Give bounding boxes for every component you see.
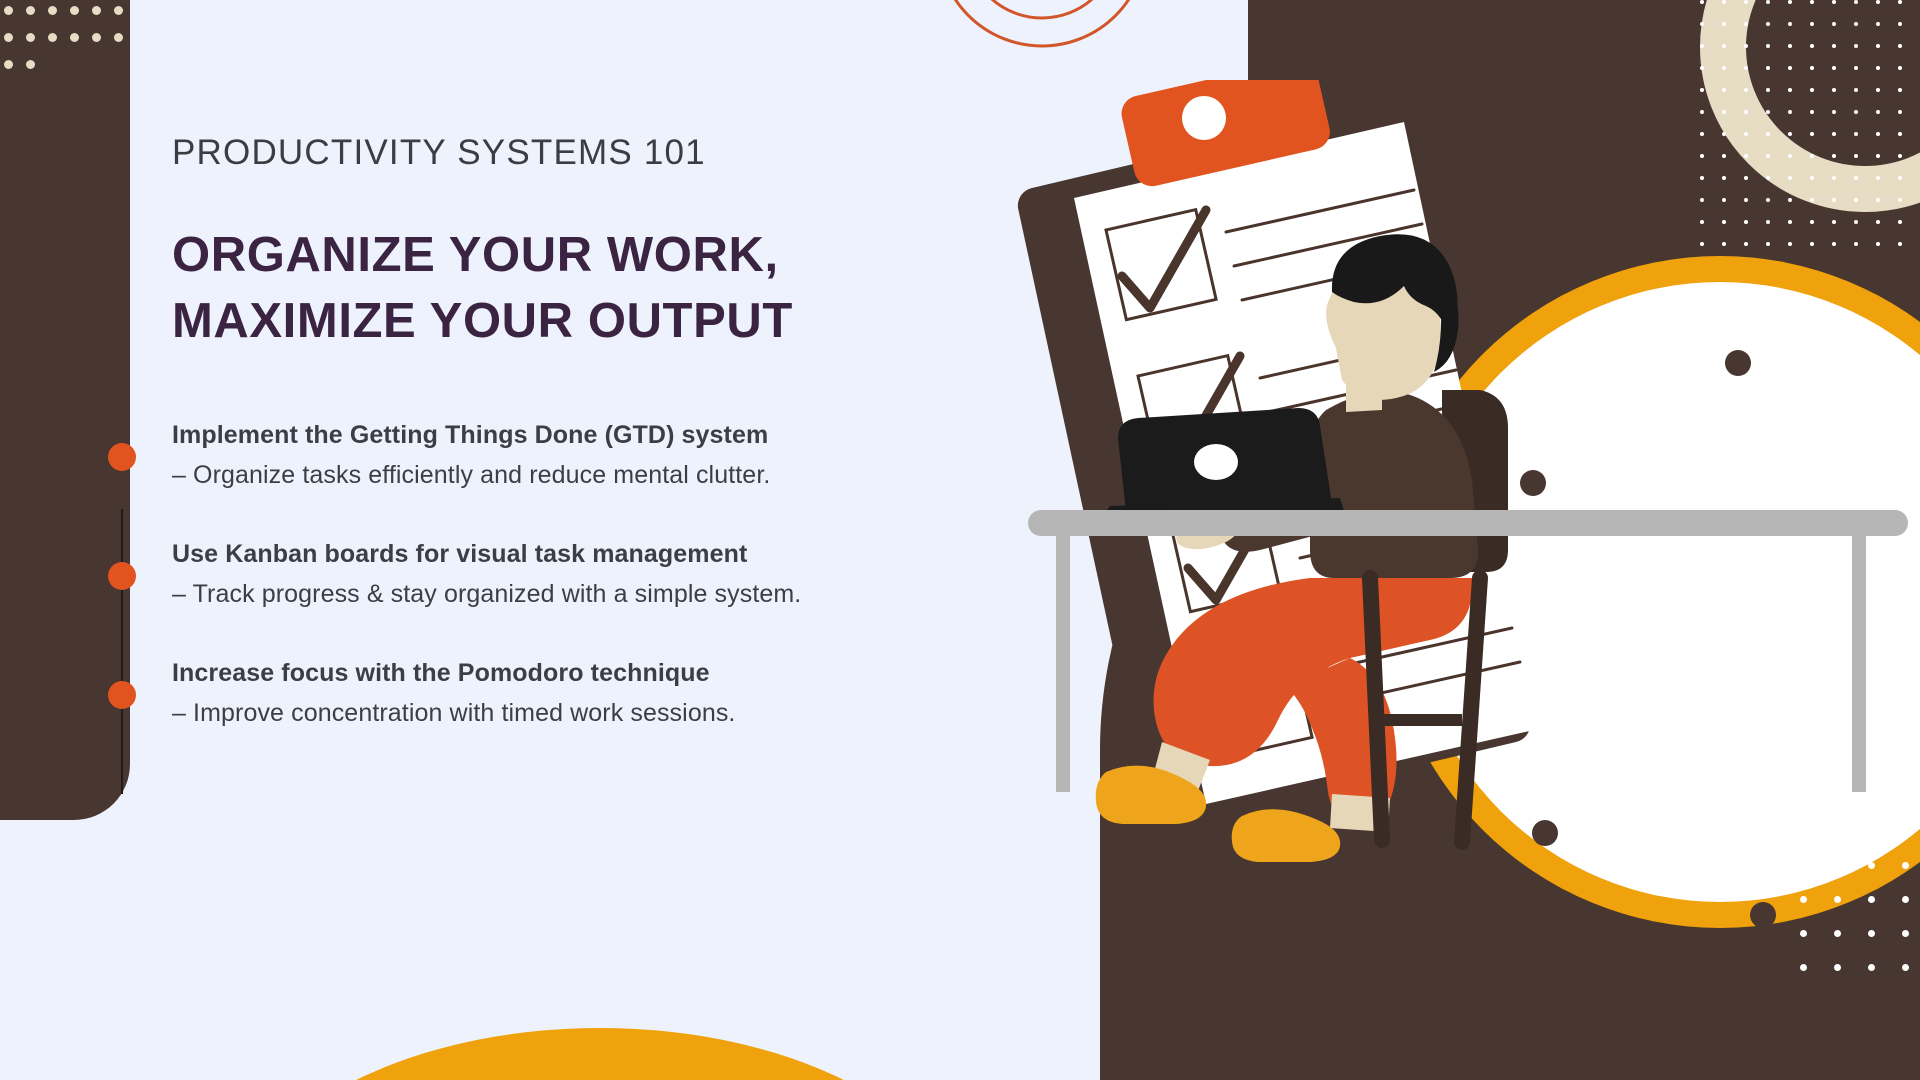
decor-dot [1832, 22, 1836, 26]
decor-dot [1788, 22, 1792, 26]
decor-dot [1744, 44, 1748, 48]
decor-dot [1700, 44, 1704, 48]
decor-dot [1854, 0, 1858, 4]
timeline-dot-3[interactable] [108, 681, 136, 709]
decor-dot [92, 33, 101, 42]
decor-dot [1788, 44, 1792, 48]
bullet-title: Implement the Getting Things Done (GTD) … [172, 415, 1002, 455]
bullet-list: Implement the Getting Things Done (GTD) … [172, 415, 1002, 734]
decor-dot [1810, 22, 1814, 26]
decor-dot [1810, 44, 1814, 48]
timeline-rail [121, 509, 123, 794]
decor-dot [1700, 0, 1704, 4]
page-title: ORGANIZE YOUR WORK, MAXIMIZE YOUR OUTPUT [172, 222, 952, 354]
decor-dot [1810, 0, 1814, 4]
decor-dot [1898, 0, 1902, 4]
bullet-description: – Track progress & stay organized with a… [172, 574, 1002, 615]
decor-dot [1854, 66, 1858, 70]
decor-dot [1788, 0, 1792, 4]
decor-dot [1766, 22, 1770, 26]
decor-dot [1744, 0, 1748, 4]
bullet-title: Increase focus with the Pomodoro techniq… [172, 653, 1002, 693]
decor-dot [1832, 66, 1836, 70]
decor-dot [4, 6, 13, 15]
decor-dot [48, 6, 57, 15]
decor-dot [1722, 44, 1726, 48]
decor-dot [26, 60, 35, 69]
decor-dot [1744, 66, 1748, 70]
bullet-description: – Improve concentration with timed work … [172, 693, 1002, 734]
decor-dot [1722, 66, 1726, 70]
decor-dot [1854, 44, 1858, 48]
decor-dot [1744, 22, 1748, 26]
decor-dot [26, 6, 35, 15]
decor-dot [4, 60, 13, 69]
decor-dot [1832, 44, 1836, 48]
decor-dot [1722, 22, 1726, 26]
list-item: Use Kanban boards for visual task manage… [172, 534, 1002, 615]
timeline-dot-1[interactable] [108, 443, 136, 471]
decor-dot [1788, 66, 1792, 70]
decor-dot [1876, 0, 1880, 4]
decor-dot [4, 33, 13, 42]
illustration-person-working [1010, 80, 1920, 1080]
decor-dot [1766, 0, 1770, 4]
decor-dot [1766, 44, 1770, 48]
slide-canvas: PRODUCTIVITY SYSTEMS 101 ORGANIZE YOUR W… [0, 0, 1920, 1080]
decor-dot [1898, 44, 1902, 48]
decor-dot [1876, 44, 1880, 48]
decor-dot [1876, 22, 1880, 26]
decor-dot [1766, 66, 1770, 70]
text-column: PRODUCTIVITY SYSTEMS 101 ORGANIZE YOUR W… [172, 0, 1002, 1080]
decor-dot [92, 6, 101, 15]
decor-dot [114, 6, 123, 15]
decor-dot [26, 33, 35, 42]
decor-dot [114, 33, 123, 42]
list-item: Implement the Getting Things Done (GTD) … [172, 415, 1002, 496]
bullet-title: Use Kanban boards for visual task manage… [172, 534, 1002, 574]
decor-dot [48, 33, 57, 42]
decor-dot [70, 6, 79, 15]
decor-dot [70, 33, 79, 42]
decor-dot [1898, 66, 1902, 70]
decor-dot [1700, 22, 1704, 26]
decor-dot [1722, 0, 1726, 4]
eyebrow-label: PRODUCTIVITY SYSTEMS 101 [172, 133, 706, 173]
decor-dot [1810, 66, 1814, 70]
decor-dot [1832, 0, 1836, 4]
list-item: Increase focus with the Pomodoro techniq… [172, 653, 1002, 734]
decor-dot [1898, 22, 1902, 26]
headline-line-2: MAXIMIZE YOUR OUTPUT [172, 288, 952, 354]
headline-line-1: ORGANIZE YOUR WORK, [172, 222, 952, 288]
timeline-dot-2[interactable] [108, 562, 136, 590]
decor-dot [1854, 22, 1858, 26]
decor-dot [1876, 66, 1880, 70]
bullet-description: – Organize tasks efficiently and reduce … [172, 455, 1002, 496]
decor-dot [1700, 66, 1704, 70]
